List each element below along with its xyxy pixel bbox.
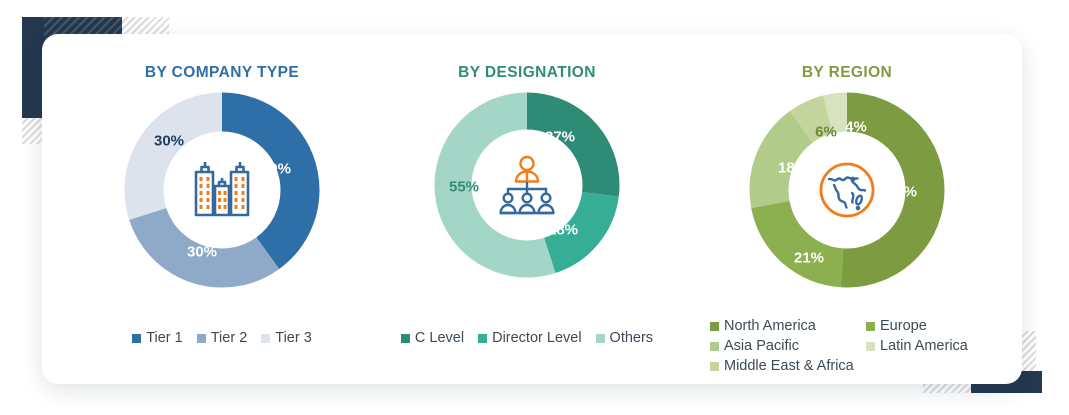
legend-swatch-asia-pacific [710, 342, 719, 351]
chart-title-designation: BY DESIGNATION [382, 64, 672, 82]
legend-item-middle-east-africa[interactable]: Middle East & Africa [710, 358, 860, 374]
legend-designation: C Level Director Level Others [382, 330, 672, 346]
org-people-icon [492, 150, 562, 220]
buildings-icon [187, 155, 257, 225]
chart-title-company-type: BY COMPANY TYPE [62, 64, 382, 82]
legend-swatch-tier-3 [261, 334, 270, 343]
legend-swatch-others [596, 334, 605, 343]
legend-label-tier-3: Tier 3 [275, 330, 312, 346]
legend-company-type: Tier 1 Tier 2 Tier 3 [62, 330, 382, 346]
legend-item-director-level[interactable]: Director Level [478, 330, 581, 346]
legend-label-latin-america: Latin America [880, 338, 968, 354]
legend-item-tier-1[interactable]: Tier 1 [132, 330, 183, 346]
legend-item-north-america[interactable]: North America [710, 318, 860, 334]
chart-panel-designation: BY DESIGNATION 27% 18% 55% [382, 34, 672, 384]
legend-label-north-america: North America [724, 318, 816, 334]
legend-swatch-middle-east-africa [710, 362, 719, 371]
legend-swatch-north-america [710, 322, 719, 331]
legend-label-tier-2: Tier 2 [211, 330, 248, 346]
donut-chart-region: 51% 21% 18% 6% 4% [749, 92, 945, 288]
legend-label-europe: Europe [880, 318, 927, 334]
legend-item-tier-2[interactable]: Tier 2 [197, 330, 248, 346]
chart-card: BY COMPANY TYPE 40% 30% 30% [42, 34, 1022, 384]
legend-label-others: Others [610, 330, 654, 346]
legend-item-tier-3[interactable]: Tier 3 [261, 330, 312, 346]
legend-item-europe[interactable]: Europe [866, 318, 1016, 334]
globe-icon [812, 155, 882, 225]
legend-item-others[interactable]: Others [596, 330, 654, 346]
legend-swatch-director-level [478, 334, 487, 343]
legend-item-c-level[interactable]: C Level [401, 330, 464, 346]
donut-chart-designation: 27% 18% 55% [434, 92, 620, 278]
legend-label-asia-pacific: Asia Pacific [724, 338, 799, 354]
chart-title-region: BY REGION [672, 64, 1022, 82]
legend-label-c-level: C Level [415, 330, 464, 346]
legend-label-middle-east-africa: Middle East & Africa [724, 358, 854, 374]
legend-item-latin-america[interactable]: Latin America [866, 338, 1016, 354]
chart-panel-company-type: BY COMPANY TYPE 40% 30% 30% [62, 34, 382, 384]
infographic-canvas: BY COMPANY TYPE 40% 30% 30% [0, 0, 1069, 415]
legend-swatch-europe [866, 322, 875, 331]
legend-swatch-tier-2 [197, 334, 206, 343]
legend-swatch-latin-america [866, 342, 875, 351]
donut-chart-company-type: 40% 30% 30% [124, 92, 320, 288]
chart-panel-region: BY REGION [672, 34, 1022, 384]
legend-swatch-c-level [401, 334, 410, 343]
legend-region: North America Europe Asia Pacific Latin … [672, 318, 1022, 374]
legend-label-director-level: Director Level [492, 330, 581, 346]
legend-swatch-tier-1 [132, 334, 141, 343]
corner-deco-top-left-bar [22, 17, 44, 118]
legend-item-asia-pacific[interactable]: Asia Pacific [710, 338, 860, 354]
legend-label-tier-1: Tier 1 [146, 330, 183, 346]
